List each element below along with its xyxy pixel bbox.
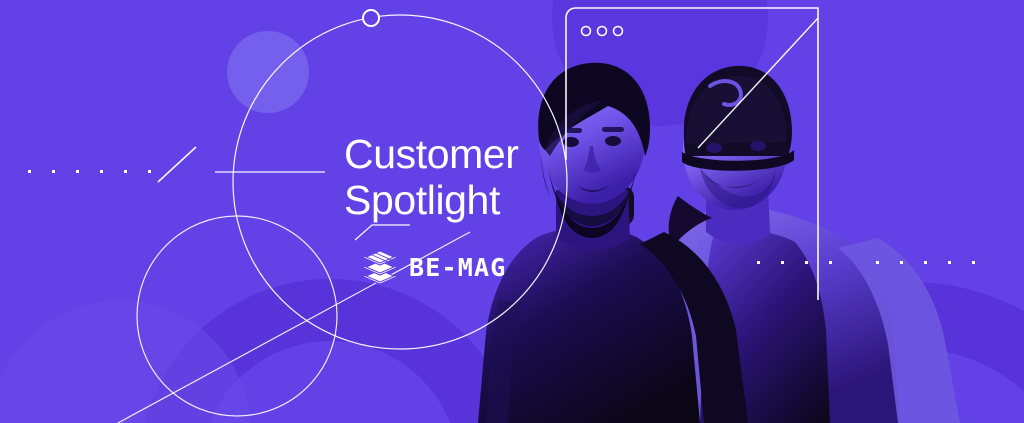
headline-line-2: Spotlight bbox=[344, 177, 574, 223]
window-dot-1 bbox=[582, 27, 591, 36]
browser-window-dots bbox=[582, 27, 623, 36]
headline-line-1: Customer bbox=[344, 131, 574, 177]
frame-diagonal-line bbox=[698, 18, 818, 148]
stacked-cube-icon bbox=[362, 248, 398, 286]
brand-logo-lockup[interactable]: BE-MAG bbox=[362, 248, 507, 286]
circle-node-marker bbox=[363, 10, 379, 26]
browser-window-outline bbox=[566, 8, 818, 300]
small-circle-outline bbox=[137, 216, 337, 416]
bent-connector-line bbox=[355, 225, 410, 240]
customer-spotlight-banner: Customer Spotlight BE-MAG bbox=[0, 0, 1024, 423]
diagonal-slash-accent bbox=[158, 147, 196, 182]
window-dot-3 bbox=[614, 27, 623, 36]
dotted-line-left bbox=[28, 170, 151, 173]
dotted-line-right bbox=[757, 261, 975, 264]
brand-wordmark: BE-MAG bbox=[409, 255, 507, 280]
page-title: Customer Spotlight bbox=[344, 131, 574, 223]
window-dot-2 bbox=[598, 27, 607, 36]
